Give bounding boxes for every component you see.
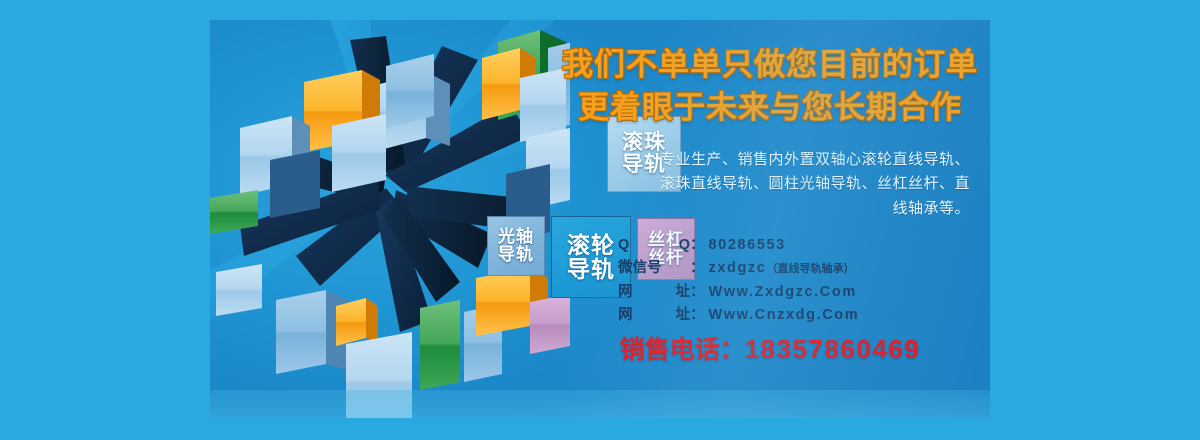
cube-orange-lower xyxy=(336,298,378,346)
website-1-colon: ： xyxy=(690,281,705,304)
headline-line-1: 我们不单单只做您目前的订单 xyxy=(550,44,990,87)
description-line-2: 滚珠直线导轨、圆柱光轴导轨、丝杠丝杆、直 xyxy=(578,172,970,196)
contact-row-qq: Q Q ： 80286553 xyxy=(618,234,990,257)
website-1-label: 网 址 xyxy=(618,281,690,304)
contact-info-block: Q Q ： 80286553 微信号 ： zxdgzc （直线导轨轴承） xyxy=(618,234,990,328)
website-2-colon: ： xyxy=(690,304,705,327)
panel-bottom-band xyxy=(210,390,990,418)
website-2-label-char-1: 网 xyxy=(618,304,633,327)
wechat-label-text: 微信号 xyxy=(618,257,662,280)
banner-stage: 滚珠 导轨 光轴 导轨 滚轮 导轨 丝杠 丝杆 我们不单单只做您目前的订单 更着… xyxy=(0,0,1200,440)
product-label-guangzhou-daogui: 光轴 导轨 xyxy=(487,216,545,276)
wechat-colon: ： xyxy=(690,257,705,280)
sales-phone: 销售电话：18357860469 xyxy=(550,330,990,366)
website-2-value[interactable]: Www.Cnzxdg.Com xyxy=(709,304,860,327)
qq-colon: ： xyxy=(690,234,705,257)
contact-row-website-1: 网 址 ： Www.Zxdgzc.Com xyxy=(618,281,990,304)
contact-row-website-2: 网 址 ： Www.Cnzxdg.Com xyxy=(618,304,990,327)
cube-lightblue-upper-mid xyxy=(386,54,434,128)
wechat-label: 微信号 xyxy=(618,257,690,280)
headline: 我们不单单只做您目前的订单 更着眼于未来与您长期合作 xyxy=(550,44,990,130)
cube-lightblue-lower-left xyxy=(216,264,262,316)
banner-content-column: 我们不单单只做您目前的订单 更着眼于未来与您长期合作 专业生产、销售内外置双轴心… xyxy=(550,20,990,418)
product-label-guangzhou-line2: 导轨 xyxy=(498,246,534,264)
description-line-3: 线轴承等。 xyxy=(578,197,970,221)
cube-green-lower-right xyxy=(420,300,460,390)
website-2-label-char-2: 址 xyxy=(676,304,691,327)
headline-line-2: 更着眼于未来与您长期合作 xyxy=(550,87,990,130)
sales-phone-label: 销售电话： xyxy=(620,336,745,364)
qq-label-char-1: Q xyxy=(618,234,629,257)
website-2-label: 网 址 xyxy=(618,304,690,327)
website-1-label-char-1: 网 xyxy=(618,281,633,304)
qq-value[interactable]: 80286553 xyxy=(709,234,786,257)
wechat-note: （直线导轨轴承） xyxy=(766,261,854,279)
qq-label: Q Q xyxy=(618,234,690,257)
sales-phone-number[interactable]: 18357860469 xyxy=(745,334,921,364)
description-line-1: 专业生产、销售内外置双轴心滚轮直线导轨、 xyxy=(578,148,970,172)
description-text: 专业生产、销售内外置双轴心滚轮直线导轨、 滚珠直线导轨、圆柱光轴导轨、丝杠丝杆、… xyxy=(578,148,970,221)
website-1-label-char-2: 址 xyxy=(676,281,691,304)
wechat-value[interactable]: zxdgzc xyxy=(709,257,767,280)
cube-lightblue-mid xyxy=(332,114,386,192)
promo-banner-panel: 滚珠 导轨 光轴 导轨 滚轮 导轨 丝杠 丝杆 我们不单单只做您目前的订单 更着… xyxy=(210,20,990,418)
product-label-guangzhou-line1: 光轴 xyxy=(498,228,534,246)
cube-darkblue-center xyxy=(270,150,320,218)
qq-label-char-2: Q xyxy=(679,234,690,257)
website-1-value[interactable]: Www.Zxdgzc.Com xyxy=(709,281,857,304)
contact-row-wechat: 微信号 ： zxdgzc （直线导轨轴承） xyxy=(618,257,990,280)
